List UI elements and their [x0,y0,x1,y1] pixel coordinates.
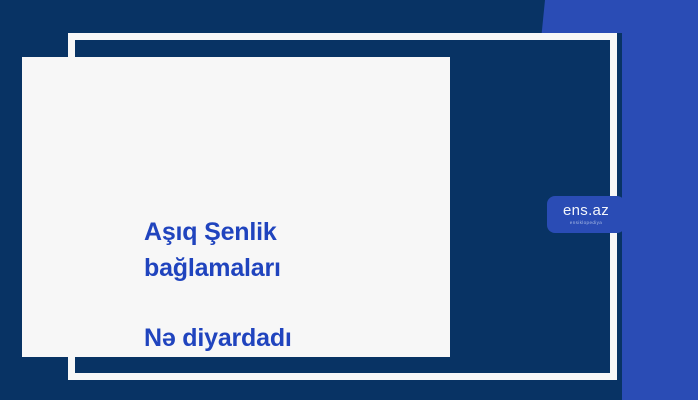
ensaz-wordmark: ens.az [563,203,609,218]
headline-line-2: bağlamaları [144,250,464,286]
subtitle-line: Nə diyardadı [144,320,464,356]
slide-canvas: Aşıq Şenlik bağlamaları Nə diyardadı ens… [0,0,698,400]
ensaz-tagline: ensiklopediya [570,219,602,226]
ensaz-logo-badge[interactable]: ens.az ensiklopediya [547,196,625,233]
content-card: Aşıq Şenlik bağlamaları Nə diyardadı [22,57,450,357]
text-block: Aşıq Şenlik bağlamaları Nə diyardadı [144,214,464,356]
headline-line-1: Aşıq Şenlik [144,214,464,250]
